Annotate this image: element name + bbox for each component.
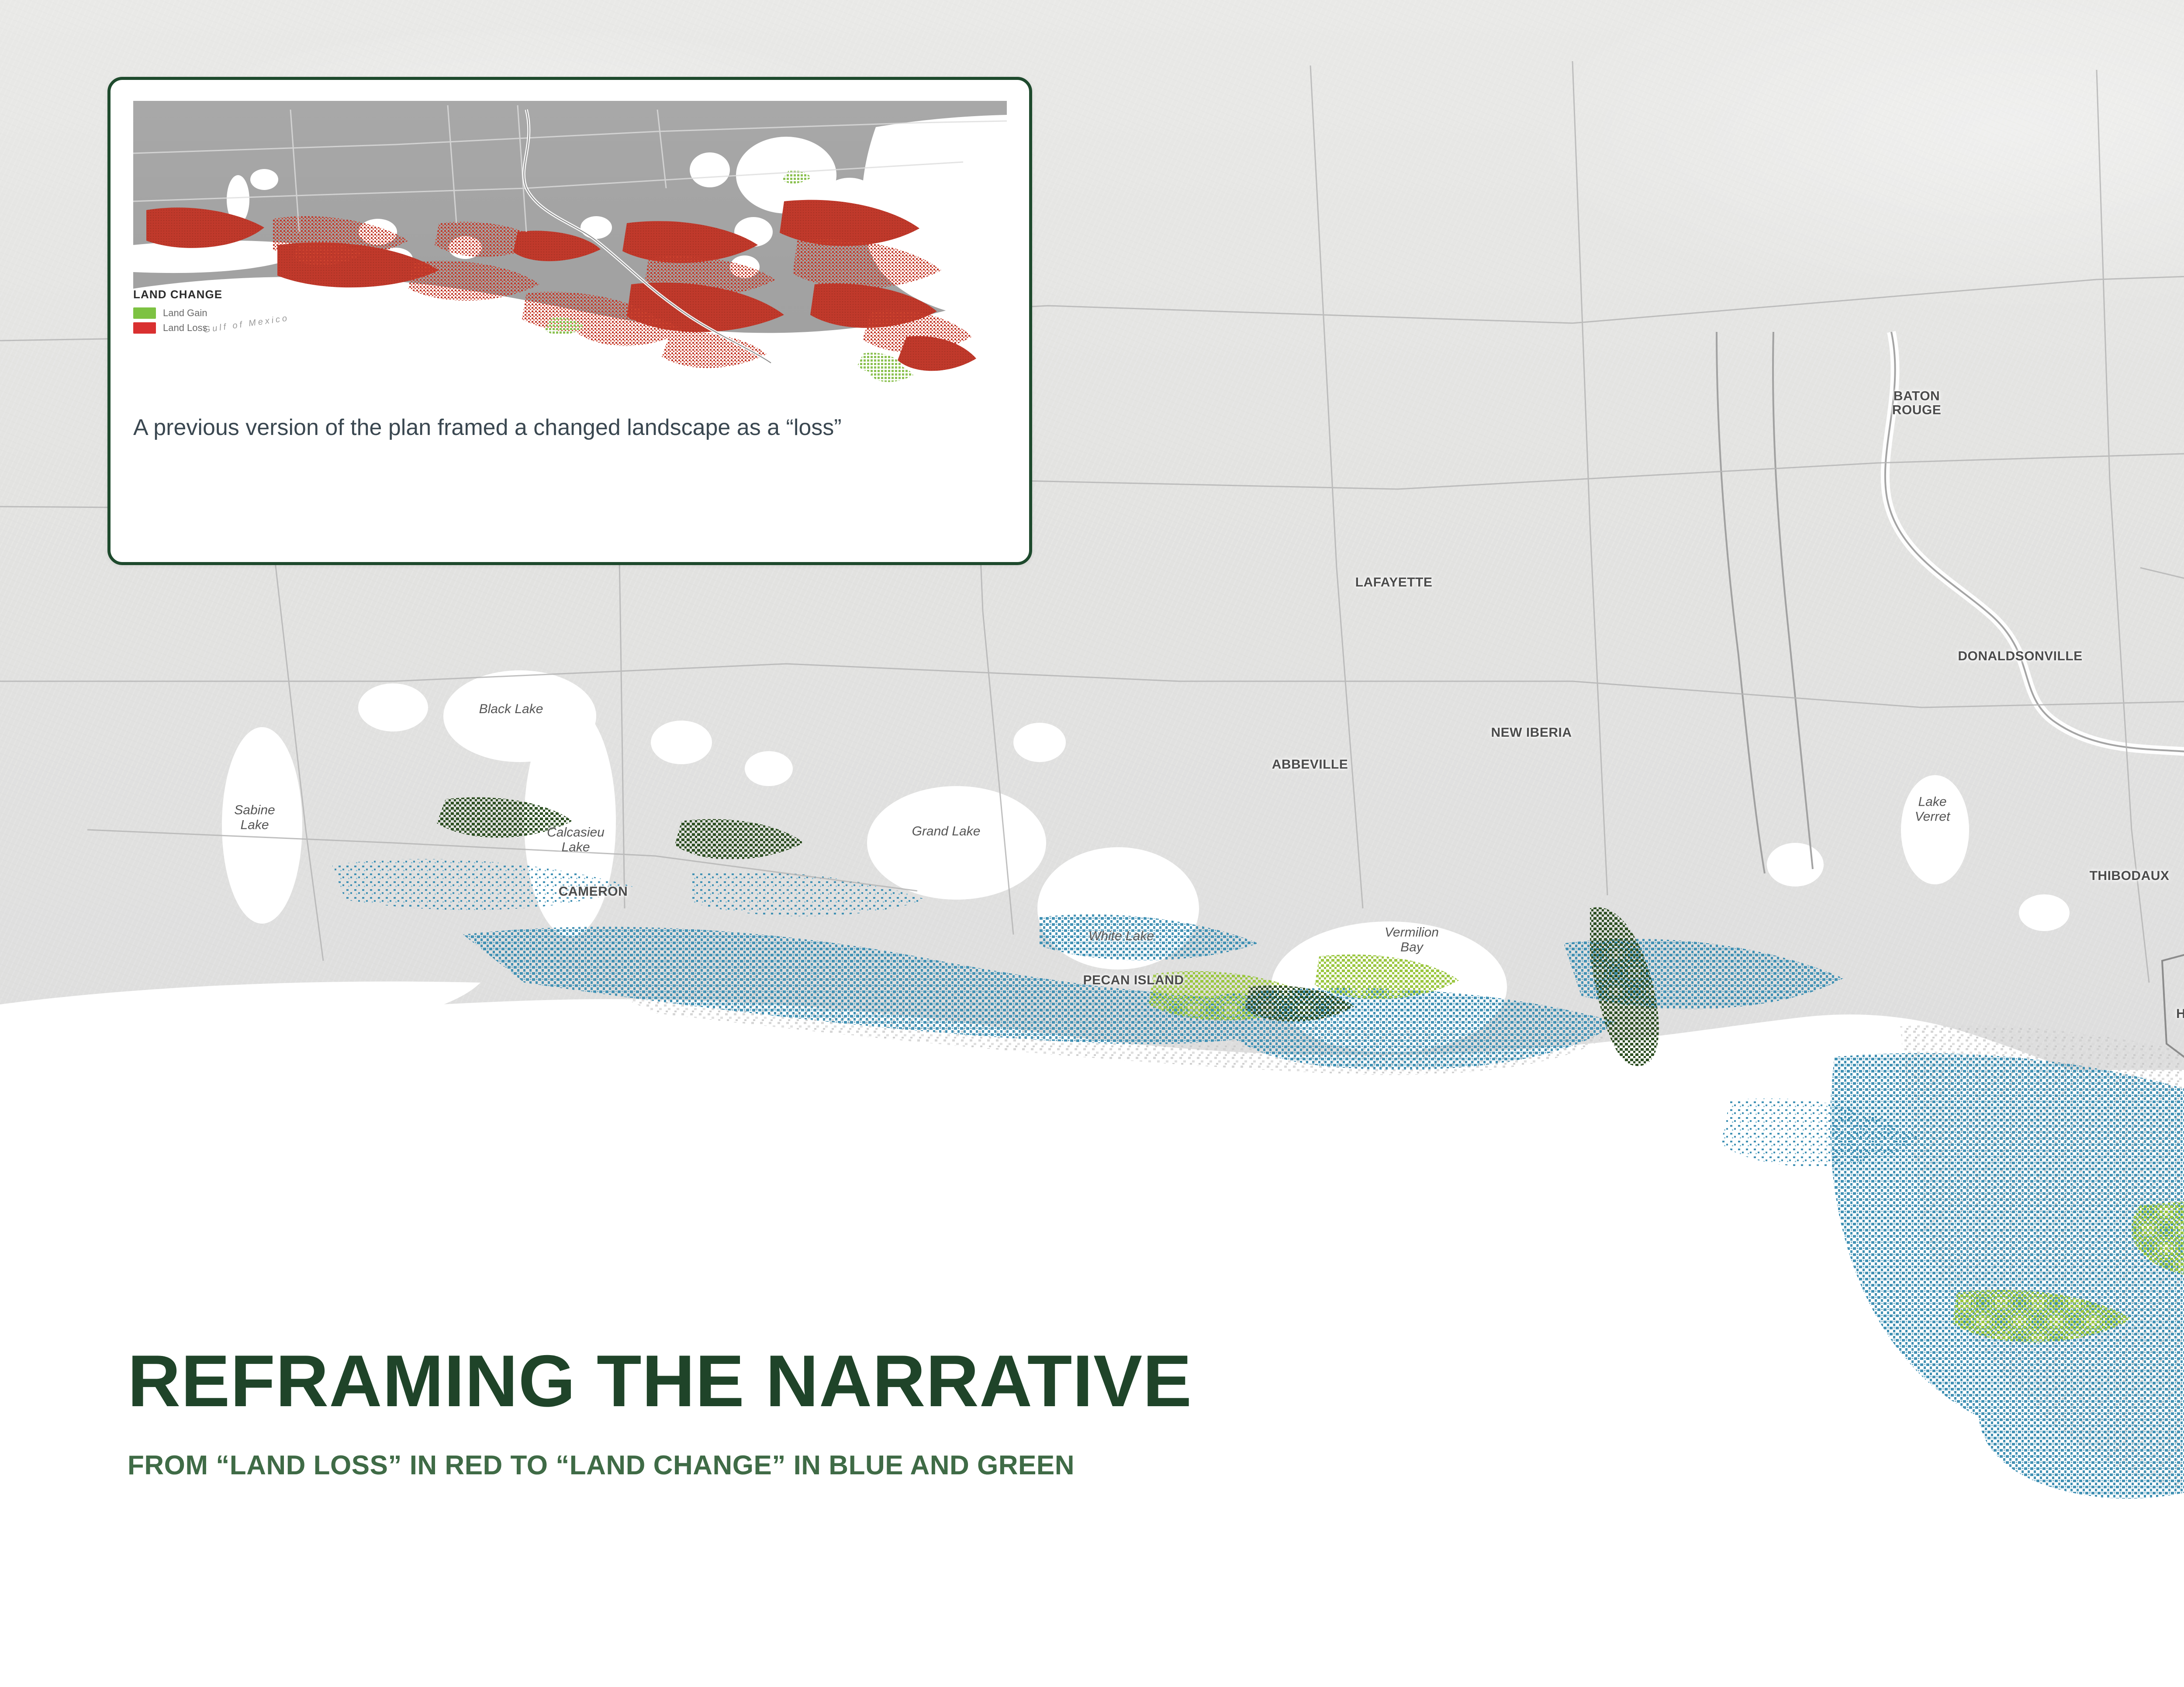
page-subtitle: FROM “LAND LOSS” IN RED TO “LAND CHANGE”… — [128, 1450, 2184, 1481]
city-label-lafayette: LAFAYETTE — [1355, 575, 1433, 590]
water-label-sabine-lake: Sabine Lake — [234, 803, 275, 832]
inset-legend-title: LAND CHANGE — [133, 288, 222, 301]
city-label-houma: HOUMA — [2176, 1007, 2184, 1021]
inset-legend-label-land-loss: Land Loss — [163, 322, 207, 334]
inset-legend: LAND CHANGE Land Gain Land Loss — [133, 288, 222, 337]
city-label-abbeville: ABBEVILLE — [1272, 757, 1348, 772]
city-label-thibodaux: THIBODAUX — [2090, 869, 2170, 883]
inset-legend-label-land-gain: Land Gain — [163, 307, 207, 319]
water-label-vermilion-bay: Vermilion Bay — [1385, 925, 1439, 954]
water-label-lake-verret: Lake Verret — [1915, 794, 1950, 824]
inset-legend-row-land-loss: Land Loss — [133, 322, 222, 334]
water-label-white-lake: White Lake — [1089, 929, 1154, 944]
inset-legend-swatch-land-gain — [133, 307, 156, 319]
page-title: REFRAMING THE NARRATIVE — [128, 1344, 2184, 1418]
inset-map-vectors — [133, 101, 1007, 390]
city-label-pecan-island: PECAN ISLAND — [1083, 973, 1184, 988]
inset-legend-row-land-gain: Land Gain — [133, 307, 222, 319]
water-label-grand-lake: Grand Lake — [912, 824, 981, 839]
water-label-black-lake: Black Lake — [479, 702, 543, 717]
city-label-donaldsonville: DONALDSONVILLE — [1958, 649, 2082, 664]
inset-panel: Gulf of Mexico LAND CHANGE Land Gain Lan… — [107, 77, 1032, 565]
city-label-new-iberia: NEW IBERIA — [1491, 725, 1572, 740]
inset-caption: A previous version of the plan framed a … — [133, 412, 876, 444]
title-block: REFRAMING THE NARRATIVE FROM “LAND LOSS”… — [128, 1344, 2184, 1481]
inset-map-image: Gulf of Mexico — [133, 101, 1007, 390]
city-label-cameron: CAMERON — [559, 884, 628, 899]
city-label-baton-rouge: BATON ROUGE — [1892, 390, 1942, 417]
inset-legend-swatch-land-loss — [133, 322, 156, 334]
water-label-calcasieu-lake: Calcasieu Lake — [547, 825, 605, 854]
